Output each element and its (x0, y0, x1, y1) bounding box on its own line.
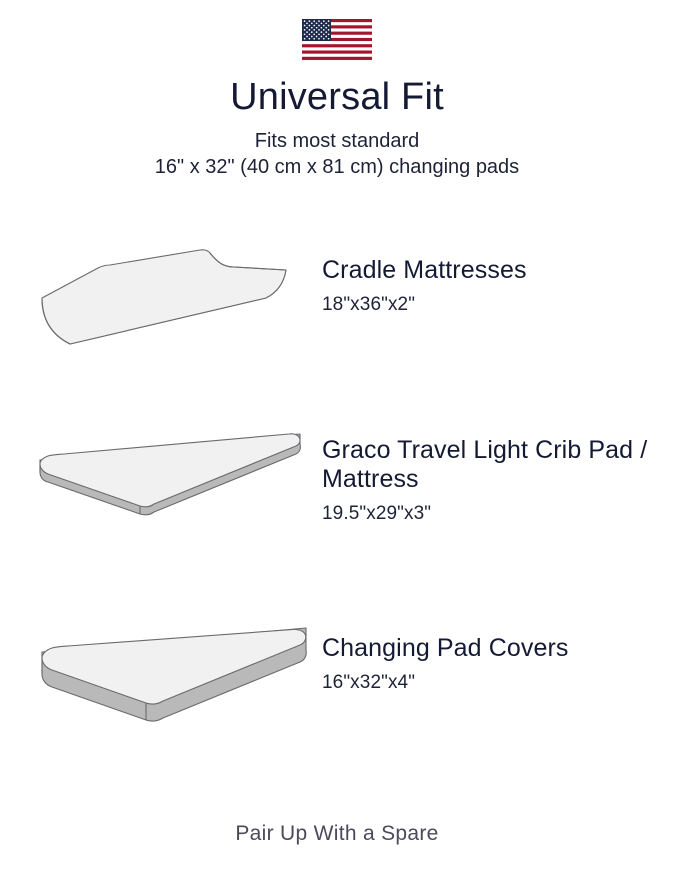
us-flag-icon (302, 19, 372, 60)
product-dimensions: 19.5"x29"x3" (322, 503, 662, 525)
infographic-page: Universal Fit Fits most standard 16" x 3… (0, 0, 674, 879)
product-row: Graco Travel Light Crib Pad / Mattress 1… (0, 394, 674, 586)
page-subtitle: Fits most standard 16" x 32" (40 cm x 81… (0, 129, 674, 180)
subtitle-line-1: Fits most standard (0, 129, 674, 155)
header-block: Universal Fit Fits most standard 16" x 3… (0, 77, 674, 180)
product-list: Cradle Mattresses 18"x36"x2" (0, 204, 674, 736)
product-caption: Graco Travel Light Crib Pad / Mattress 1… (318, 394, 674, 525)
product-name: Graco Travel Light Crib Pad / Mattress (322, 436, 662, 494)
page-title: Universal Fit (0, 77, 674, 117)
product-row: Changing Pad Covers 16"x32"x4" (0, 586, 674, 736)
product-name: Changing Pad Covers (322, 634, 662, 663)
product-dimensions: 16"x32"x4" (322, 672, 662, 694)
thick-changing-pad-illustration (18, 586, 318, 740)
flat-crib-mattress-illustration (18, 394, 318, 536)
product-caption: Changing Pad Covers 16"x32"x4" (318, 586, 674, 694)
subtitle-line-2: 16" x 32" (40 cm x 81 cm) changing pads (0, 155, 674, 181)
product-caption: Cradle Mattresses 18"x36"x2" (318, 204, 674, 316)
product-dimensions: 18"x36"x2" (322, 294, 662, 316)
product-name: Cradle Mattresses (322, 256, 662, 285)
contoured-changing-pad-illustration (18, 204, 318, 366)
footer-tagline: Pair Up With a Spare (0, 822, 674, 846)
product-row: Cradle Mattresses 18"x36"x2" (0, 204, 674, 394)
